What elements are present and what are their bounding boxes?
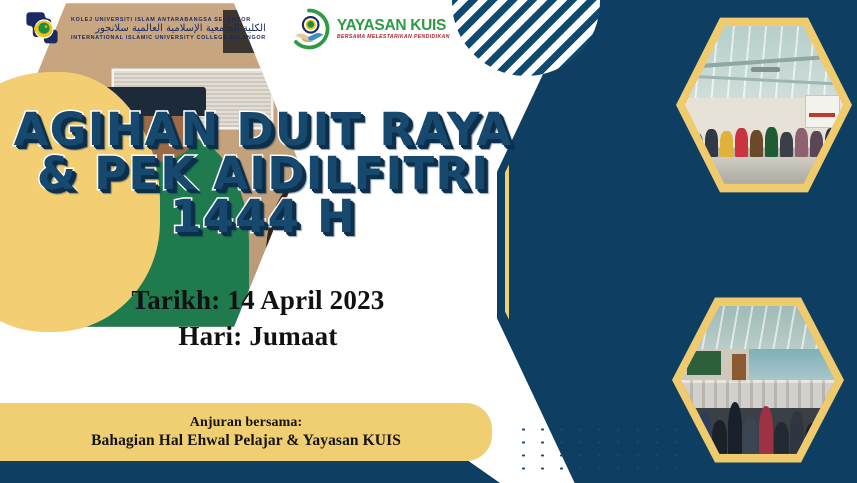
striped-circle-decoration xyxy=(452,0,600,76)
footer-line-1: Anjuran bersama: xyxy=(190,415,302,431)
event-date: Tarikh: 14 April 2023 xyxy=(8,282,508,318)
kuis-logo: KOLEJ UNIVERSITI ISLAM ANTARABANGSA SELA… xyxy=(24,9,266,49)
photo-bottom-hexagon xyxy=(672,294,844,466)
kuis-emblem-icon xyxy=(24,9,64,49)
logo-bar: KOLEJ UNIVERSITI ISLAM ANTARABANGSA SELA… xyxy=(24,8,450,50)
yayasan-handshake-icon xyxy=(288,8,330,50)
footer-line-2: Bahagian Hal Ehwal Pelajar & Yayasan KUI… xyxy=(91,432,401,450)
yayasan-logo-tagline: BERSAMA MELESTARIKAN PENDIDIKAN xyxy=(337,34,450,40)
event-day: Hari: Jumaat xyxy=(8,318,508,354)
footer-banner: Anjuran bersama: Bahagian Hal Ehwal Pela… xyxy=(0,403,492,461)
photo-top-hexagon xyxy=(676,14,852,196)
headline-line-2: & PEK AIDILFITRI xyxy=(8,152,518,196)
headline-line-3: 1444 H xyxy=(8,195,518,239)
dot-grid-decoration xyxy=(512,421,682,477)
kuis-logo-line3: INTERNATIONAL ISLAMIC UNIVERSITY COLLEGE… xyxy=(71,35,266,41)
yayasan-logo-text: YAYASAN KUIS BERSAMA MELESTARIKAN PENDID… xyxy=(337,18,450,40)
headline-line-1: AGIHAN DUIT RAYA xyxy=(8,108,518,152)
event-details: Tarikh: 14 April 2023 Hari: Jumaat xyxy=(8,282,508,355)
yayasan-logo-name: YAYASAN KUIS xyxy=(337,18,450,34)
poster-canvas: save here with it's theon planet with ch… xyxy=(0,0,857,483)
poster-headline: AGIHAN DUIT RAYA & PEK AIDILFITRI 1444 H xyxy=(8,108,518,239)
kuis-logo-arabic: الكلية الجامعية الإسلامية العالمية سلانج… xyxy=(71,24,266,34)
yayasan-kuis-logo: YAYASAN KUIS BERSAMA MELESTARIKAN PENDID… xyxy=(288,8,450,50)
kuis-logo-text: KOLEJ UNIVERSITI ISLAM ANTARABANGSA SELA… xyxy=(71,17,266,41)
